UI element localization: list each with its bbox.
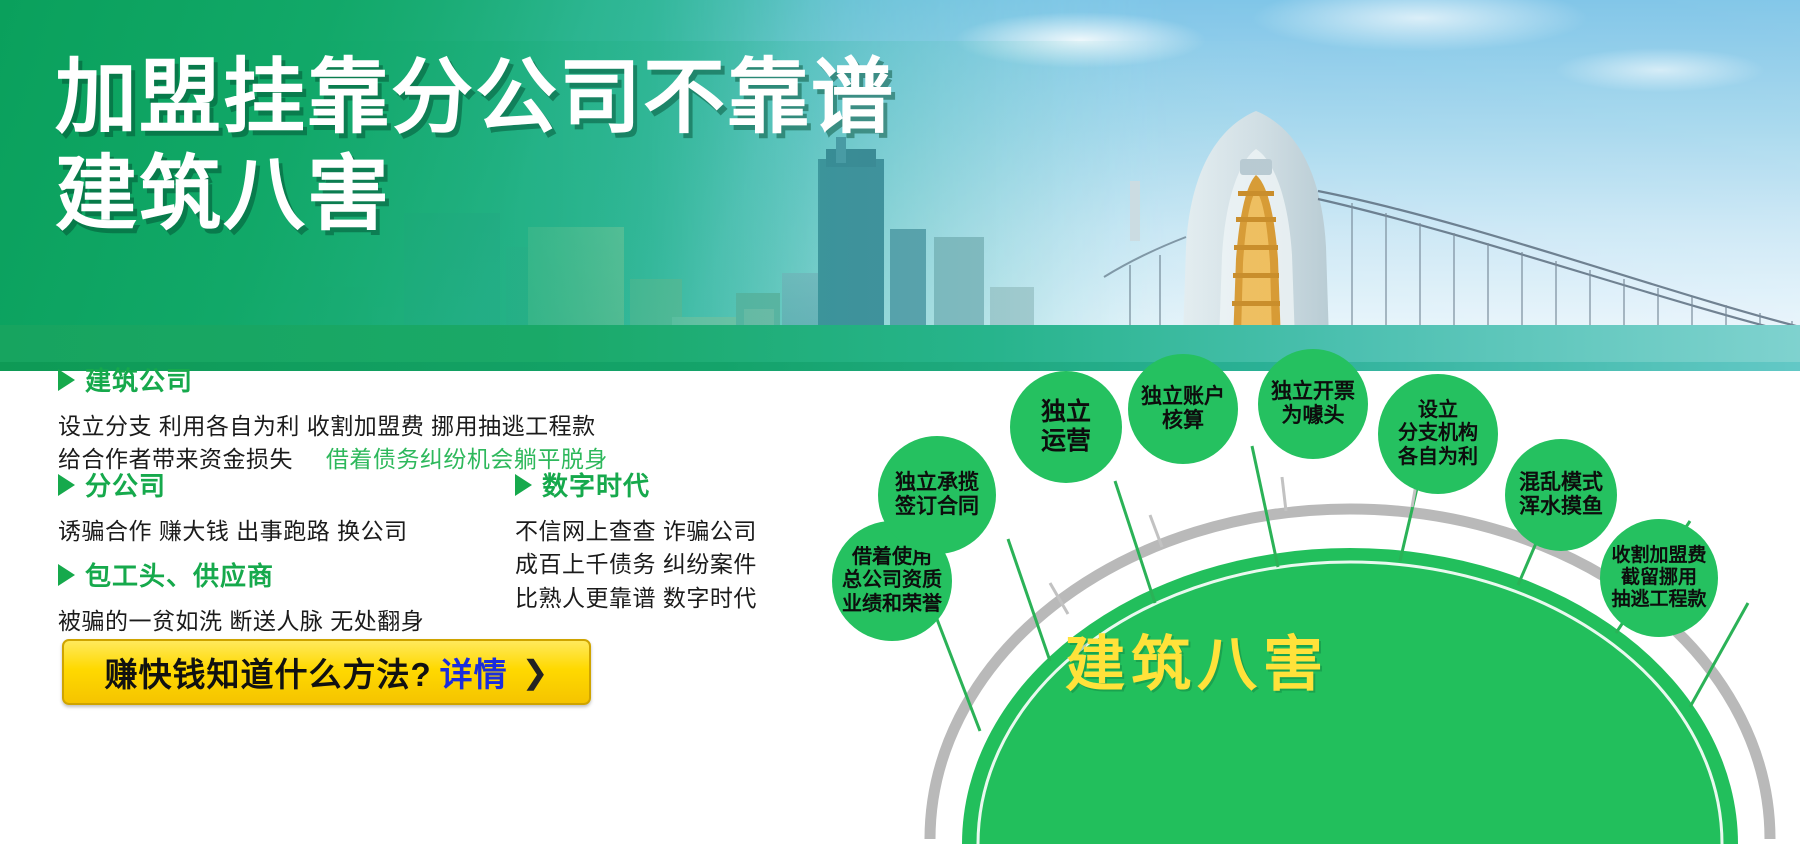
poster-root: 加盟挂靠分公司不靠谱 建筑八害 建筑公司 设立分支 利用各自为利 收割加盟费 挪… — [0, 0, 1800, 844]
hero-title-line2: 建筑八害 — [55, 152, 895, 239]
section-branch-head: 分公司 — [58, 466, 408, 503]
hero-title-line1: 加盟挂靠分公司不靠谱 — [55, 55, 895, 142]
section-construction-head: 建筑公司 — [58, 361, 608, 398]
bubble-8-text: 收割加盟费 截留挪用 抽逃工程款 — [1611, 545, 1706, 611]
section-digital-line-3: 比熟人更靠谱 数字时代 — [515, 582, 757, 615]
section-branch-line-1: 诱骗合作 赚大钱 出事跑路 换公司 — [58, 515, 408, 548]
section-construction-title: 建筑公司 — [85, 361, 193, 398]
cta-detail-link[interactable]: 详情 — [440, 648, 508, 696]
left-content: 建筑公司 设立分支 利用各自为利 收割加盟费 挪用抽逃工程款 给合作者带来资金损… — [0, 371, 900, 844]
bubble-7[interactable]: 混乱模式 浑水摸鱼 — [1505, 439, 1617, 551]
bubble-5-text: 独立开票 为噱头 — [1271, 380, 1355, 429]
bubble-6-text: 设立 分支机构 各自为利 — [1398, 399, 1478, 469]
triangle-right-icon — [58, 474, 75, 496]
bubble-8[interactable]: 收割加盟费 截留挪用 抽逃工程款 — [1600, 519, 1718, 637]
cta-label: 赚快钱知道什么方法? — [105, 648, 432, 696]
bubble-5[interactable]: 独立开票 为噱头 — [1258, 349, 1368, 459]
triangle-right-icon — [515, 474, 532, 496]
bubble-6[interactable]: 设立 分支机构 各自为利 — [1378, 374, 1498, 494]
section-digital-line-2: 成百上千债务 纠纷案件 — [515, 548, 757, 581]
chevron-right-icon: ❯ — [522, 653, 549, 691]
bubble-1-text: 借着使用 总公司资质 业绩和荣誉 — [842, 546, 942, 616]
bubble-4-text: 独立账户 核算 — [1141, 385, 1225, 434]
section-digital: 数字时代 不信网上查查 诈骗公司 成百上千债务 纠纷案件 比熟人更靠谱 数字时代 — [515, 466, 757, 615]
bubble-2-text: 独立承揽 签订合同 — [895, 471, 979, 520]
triangle-right-icon — [58, 564, 75, 586]
section-digital-head: 数字时代 — [515, 466, 757, 503]
section-contractor: 包工头、供应商 被骗的一贫如洗 断送人脉 无处翻身 — [58, 556, 424, 638]
hero-banner: 加盟挂靠分公司不靠谱 建筑八害 — [0, 0, 1800, 371]
bubble-4[interactable]: 独立账户 核算 — [1128, 354, 1238, 464]
section-digital-title: 数字时代 — [542, 466, 650, 503]
bubble-7-text: 混乱模式 浑水摸鱼 — [1519, 471, 1603, 520]
bubble-3-text: 独立 运营 — [1041, 398, 1091, 456]
section-contractor-title: 包工头、供应商 — [85, 556, 274, 593]
triangle-right-icon — [58, 369, 75, 391]
dome-center-label: 建筑八害 — [1065, 616, 1329, 703]
section-contractor-head: 包工头、供应商 — [58, 556, 424, 593]
section-contractor-line-1: 被骗的一贫如洗 断送人脉 无处翻身 — [58, 605, 424, 638]
section-digital-line-1: 不信网上查查 诈骗公司 — [515, 515, 757, 548]
section-construction-line-1: 设立分支 利用各自为利 收割加盟费 挪用抽逃工程款 — [58, 410, 608, 443]
bazhai-diagram: 借着使用 总公司资质 业绩和荣誉 独立承揽 签订合同 独立 运营 独立账户 核算 — [900, 371, 1800, 844]
section-branch-title: 分公司 — [85, 466, 166, 503]
bubble-3[interactable]: 独立 运营 — [1010, 371, 1122, 483]
cta-button[interactable]: 赚快钱知道什么方法? 详情 ❯ — [62, 639, 591, 705]
bubble-2[interactable]: 独立承揽 签订合同 — [878, 436, 996, 554]
hero-title-block: 加盟挂靠分公司不靠谱 建筑八害 — [55, 55, 895, 239]
section-construction: 建筑公司 设立分支 利用各自为利 收割加盟费 挪用抽逃工程款 给合作者带来资金损… — [58, 361, 608, 477]
section-branch: 分公司 诱骗合作 赚大钱 出事跑路 换公司 — [58, 466, 408, 548]
